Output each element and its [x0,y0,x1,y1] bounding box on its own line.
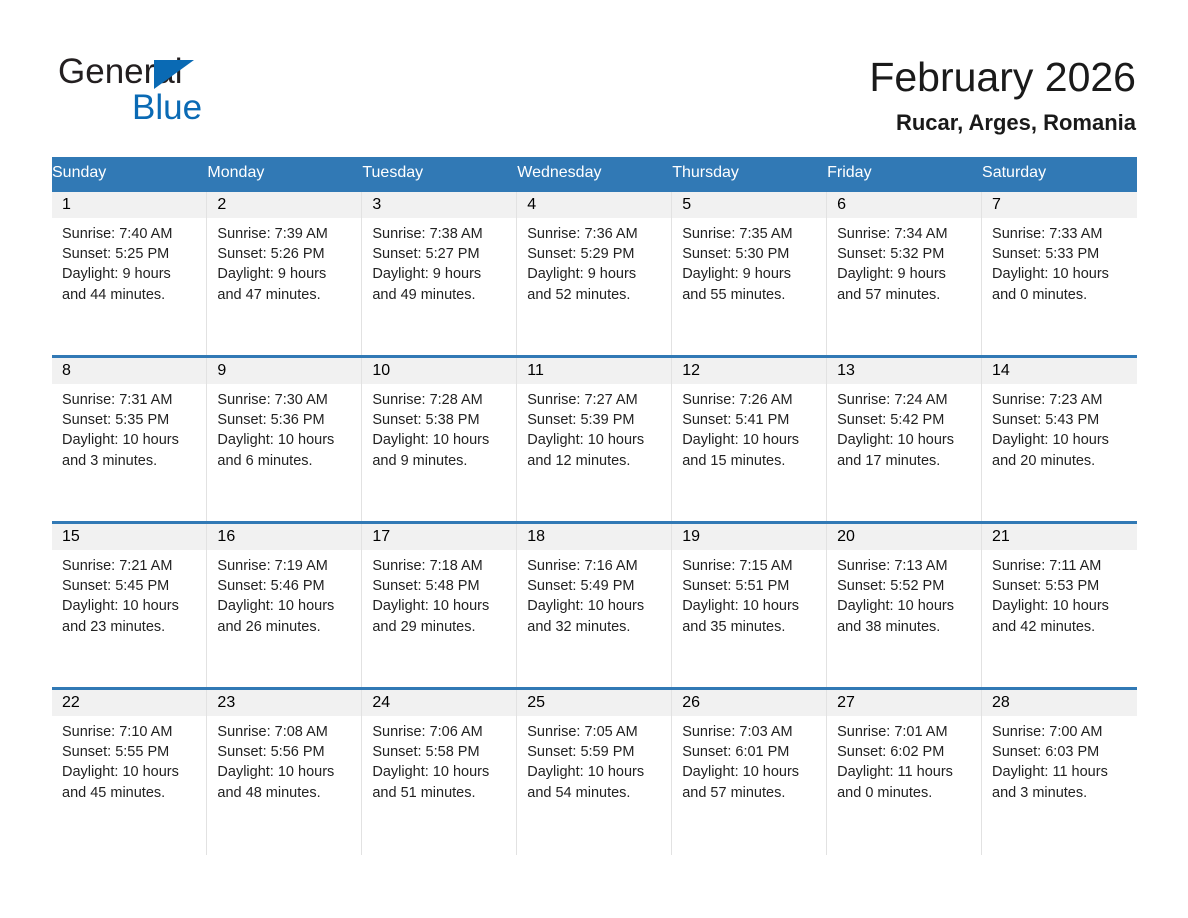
day-details: Sunrise: 7:40 AM Sunset: 5:25 PM Dayligh… [52,218,206,305]
daylight-text-line1: Daylight: 10 hours [62,430,198,450]
day-details: Sunrise: 7:19 AM Sunset: 5:46 PM Dayligh… [207,550,361,637]
daylight-text-line2: and 23 minutes. [62,617,198,637]
daylight-text-line2: and 48 minutes. [217,783,353,803]
sunrise-text: Sunrise: 7:33 AM [992,224,1128,244]
sunrise-text: Sunrise: 7:23 AM [992,390,1128,410]
daylight-text-line2: and 49 minutes. [372,285,508,305]
calendar-header-row: Sunday Monday Tuesday Wednesday Thursday… [52,157,1137,191]
sunrise-text: Sunrise: 7:38 AM [372,224,508,244]
sunset-text: Sunset: 5:46 PM [217,576,353,596]
day-details: Sunrise: 7:38 AM Sunset: 5:27 PM Dayligh… [362,218,516,305]
sunset-text: Sunset: 6:01 PM [682,742,818,762]
daylight-text-line2: and 20 minutes. [992,451,1128,471]
day-number: 24 [362,690,516,716]
sunrise-text: Sunrise: 7:10 AM [62,722,198,742]
day-cell[interactable]: 15 Sunrise: 7:21 AM Sunset: 5:45 PM Dayl… [52,523,207,689]
day-details: Sunrise: 7:24 AM Sunset: 5:42 PM Dayligh… [827,384,981,471]
daylight-text-line2: and 29 minutes. [372,617,508,637]
daylight-text-line1: Daylight: 10 hours [62,762,198,782]
sunset-text: Sunset: 5:52 PM [837,576,973,596]
day-details: Sunrise: 7:06 AM Sunset: 5:58 PM Dayligh… [362,716,516,803]
calendar-week-row: 15 Sunrise: 7:21 AM Sunset: 5:45 PM Dayl… [52,523,1137,689]
day-cell[interactable]: 2 Sunrise: 7:39 AM Sunset: 5:26 PM Dayli… [207,191,362,357]
sunrise-text: Sunrise: 7:03 AM [682,722,818,742]
sunset-text: Sunset: 5:25 PM [62,244,198,264]
day-details: Sunrise: 7:18 AM Sunset: 5:48 PM Dayligh… [362,550,516,637]
sunrise-text: Sunrise: 7:00 AM [992,722,1128,742]
daylight-text-line2: and 57 minutes. [682,783,818,803]
sunset-text: Sunset: 5:42 PM [837,410,973,430]
calendar-body: 1 Sunrise: 7:40 AM Sunset: 5:25 PM Dayli… [52,191,1137,855]
day-number: 28 [982,690,1136,716]
daylight-text-line1: Daylight: 10 hours [682,430,818,450]
day-details: Sunrise: 7:11 AM Sunset: 5:53 PM Dayligh… [982,550,1136,637]
day-number: 13 [827,358,981,384]
daylight-text-line2: and 38 minutes. [837,617,973,637]
calendar-week-row: 22 Sunrise: 7:10 AM Sunset: 5:55 PM Dayl… [52,689,1137,855]
day-cell[interactable]: 12 Sunrise: 7:26 AM Sunset: 5:41 PM Dayl… [672,357,827,523]
sunrise-text: Sunrise: 7:16 AM [527,556,663,576]
logo-triangle-icon [154,60,194,89]
day-details: Sunrise: 7:23 AM Sunset: 5:43 PM Dayligh… [982,384,1136,471]
day-cell[interactable]: 10 Sunrise: 7:28 AM Sunset: 5:38 PM Dayl… [362,357,517,523]
daylight-text-line1: Daylight: 10 hours [217,596,353,616]
daylight-text-line1: Daylight: 10 hours [527,762,663,782]
sunrise-text: Sunrise: 7:27 AM [527,390,663,410]
daylight-text-line2: and 52 minutes. [527,285,663,305]
day-number: 7 [982,192,1136,218]
sunset-text: Sunset: 5:48 PM [372,576,508,596]
weekday-header-friday: Friday [827,157,982,191]
daylight-text-line2: and 3 minutes. [992,783,1128,803]
day-details: Sunrise: 7:36 AM Sunset: 5:29 PM Dayligh… [517,218,671,305]
daylight-text-line1: Daylight: 11 hours [837,762,973,782]
day-cell[interactable]: 23 Sunrise: 7:08 AM Sunset: 5:56 PM Dayl… [207,689,362,855]
daylight-text-line2: and 17 minutes. [837,451,973,471]
weekday-header-saturday: Saturday [982,157,1137,191]
sunrise-text: Sunrise: 7:06 AM [372,722,508,742]
daylight-text-line2: and 9 minutes. [372,451,508,471]
weekday-header-thursday: Thursday [672,157,827,191]
day-details: Sunrise: 7:39 AM Sunset: 5:26 PM Dayligh… [207,218,361,305]
sunset-text: Sunset: 5:43 PM [992,410,1128,430]
daylight-text-line2: and 3 minutes. [62,451,198,471]
daylight-text-line2: and 0 minutes. [992,285,1128,305]
day-number: 3 [362,192,516,218]
day-number: 8 [52,358,206,384]
daylight-text-line2: and 6 minutes. [217,451,353,471]
sunrise-text: Sunrise: 7:35 AM [682,224,818,244]
sunrise-text: Sunrise: 7:31 AM [62,390,198,410]
sunset-text: Sunset: 5:26 PM [217,244,353,264]
sunrise-text: Sunrise: 7:30 AM [217,390,353,410]
day-number: 18 [517,524,671,550]
sunrise-text: Sunrise: 7:05 AM [527,722,663,742]
daylight-text-line2: and 44 minutes. [62,285,198,305]
day-details: Sunrise: 7:35 AM Sunset: 5:30 PM Dayligh… [672,218,826,305]
daylight-text-line1: Daylight: 10 hours [217,430,353,450]
daylight-text-line2: and 42 minutes. [992,617,1128,637]
sunrise-text: Sunrise: 7:24 AM [837,390,973,410]
daylight-text-line2: and 0 minutes. [837,783,973,803]
sunrise-text: Sunrise: 7:01 AM [837,722,973,742]
sunset-text: Sunset: 5:55 PM [62,742,198,762]
day-details: Sunrise: 7:33 AM Sunset: 5:33 PM Dayligh… [982,218,1136,305]
daylight-text-line1: Daylight: 10 hours [682,596,818,616]
day-number: 21 [982,524,1136,550]
day-number: 9 [207,358,361,384]
day-cell[interactable]: 28 Sunrise: 7:00 AM Sunset: 6:03 PM Dayl… [982,689,1137,855]
sunset-text: Sunset: 5:45 PM [62,576,198,596]
daylight-text-line2: and 32 minutes. [527,617,663,637]
sunrise-text: Sunrise: 7:08 AM [217,722,353,742]
day-cell[interactable]: 4 Sunrise: 7:36 AM Sunset: 5:29 PM Dayli… [517,191,672,357]
sunset-text: Sunset: 5:58 PM [372,742,508,762]
daylight-text-line1: Daylight: 10 hours [992,596,1128,616]
day-details: Sunrise: 7:15 AM Sunset: 5:51 PM Dayligh… [672,550,826,637]
day-number: 19 [672,524,826,550]
day-cell[interactable]: 26 Sunrise: 7:03 AM Sunset: 6:01 PM Dayl… [672,689,827,855]
daylight-text-line2: and 51 minutes. [372,783,508,803]
day-cell[interactable]: 5 Sunrise: 7:35 AM Sunset: 5:30 PM Dayli… [672,191,827,357]
daylight-text-line1: Daylight: 10 hours [62,596,198,616]
daylight-text-line1: Daylight: 9 hours [527,264,663,284]
daylight-text-line1: Daylight: 9 hours [372,264,508,284]
daylight-text-line2: and 12 minutes. [527,451,663,471]
daylight-text-line1: Daylight: 10 hours [372,596,508,616]
weekday-header-tuesday: Tuesday [362,157,517,191]
sunset-text: Sunset: 6:03 PM [992,742,1128,762]
sunrise-text: Sunrise: 7:19 AM [217,556,353,576]
daylight-text-line2: and 57 minutes. [837,285,973,305]
logo-text-blue: Blue [132,88,202,128]
daylight-text-line2: and 26 minutes. [217,617,353,637]
daylight-text-line2: and 45 minutes. [62,783,198,803]
sunset-text: Sunset: 5:29 PM [527,244,663,264]
sunset-text: Sunset: 5:35 PM [62,410,198,430]
day-number: 15 [52,524,206,550]
daylight-text-line1: Daylight: 10 hours [992,430,1128,450]
sunset-text: Sunset: 5:49 PM [527,576,663,596]
sunset-text: Sunset: 5:51 PM [682,576,818,596]
day-number: 17 [362,524,516,550]
day-cell[interactable]: 21 Sunrise: 7:11 AM Sunset: 5:53 PM Dayl… [982,523,1137,689]
day-cell[interactable]: 8 Sunrise: 7:31 AM Sunset: 5:35 PM Dayli… [52,357,207,523]
page-subtitle-location: Rucar, Arges, Romania [869,108,1136,138]
day-number: 4 [517,192,671,218]
day-number: 27 [827,690,981,716]
day-cell[interactable]: 20 Sunrise: 7:13 AM Sunset: 5:52 PM Dayl… [827,523,982,689]
daylight-text-line1: Daylight: 9 hours [682,264,818,284]
day-details: Sunrise: 7:01 AM Sunset: 6:02 PM Dayligh… [827,716,981,803]
day-number: 20 [827,524,981,550]
day-details: Sunrise: 7:34 AM Sunset: 5:32 PM Dayligh… [827,218,981,305]
day-details: Sunrise: 7:31 AM Sunset: 5:35 PM Dayligh… [52,384,206,471]
day-cell[interactable]: 18 Sunrise: 7:16 AM Sunset: 5:49 PM Dayl… [517,523,672,689]
sunset-text: Sunset: 5:32 PM [837,244,973,264]
sunrise-text: Sunrise: 7:39 AM [217,224,353,244]
day-number: 23 [207,690,361,716]
daylight-text-line1: Daylight: 10 hours [837,430,973,450]
calendar-table: Sunday Monday Tuesday Wednesday Thursday… [52,157,1137,855]
day-number: 14 [982,358,1136,384]
page-title: February 2026 [869,52,1136,102]
calendar-week-row: 8 Sunrise: 7:31 AM Sunset: 5:35 PM Dayli… [52,357,1137,523]
day-number: 5 [672,192,826,218]
day-number: 22 [52,690,206,716]
daylight-text-line2: and 15 minutes. [682,451,818,471]
day-details: Sunrise: 7:13 AM Sunset: 5:52 PM Dayligh… [827,550,981,637]
day-cell[interactable]: 11 Sunrise: 7:27 AM Sunset: 5:39 PM Dayl… [517,357,672,523]
sunrise-text: Sunrise: 7:11 AM [992,556,1128,576]
day-cell[interactable]: 16 Sunrise: 7:19 AM Sunset: 5:46 PM Dayl… [207,523,362,689]
day-details: Sunrise: 7:27 AM Sunset: 5:39 PM Dayligh… [517,384,671,471]
day-number: 11 [517,358,671,384]
day-cell[interactable]: 27 Sunrise: 7:01 AM Sunset: 6:02 PM Dayl… [827,689,982,855]
day-details: Sunrise: 7:08 AM Sunset: 5:56 PM Dayligh… [207,716,361,803]
day-details: Sunrise: 7:30 AM Sunset: 5:36 PM Dayligh… [207,384,361,471]
daylight-text-line1: Daylight: 9 hours [837,264,973,284]
day-details: Sunrise: 7:10 AM Sunset: 5:55 PM Dayligh… [52,716,206,803]
sunrise-text: Sunrise: 7:13 AM [837,556,973,576]
daylight-text-line2: and 55 minutes. [682,285,818,305]
sunrise-text: Sunrise: 7:15 AM [682,556,818,576]
day-number: 1 [52,192,206,218]
daylight-text-line1: Daylight: 11 hours [992,762,1128,782]
daylight-text-line1: Daylight: 10 hours [837,596,973,616]
day-cell[interactable]: 13 Sunrise: 7:24 AM Sunset: 5:42 PM Dayl… [827,357,982,523]
day-number: 25 [517,690,671,716]
page-header: General Blue February 2026 Rucar, Arges,… [0,0,1188,152]
day-cell[interactable]: 14 Sunrise: 7:23 AM Sunset: 5:43 PM Dayl… [982,357,1137,523]
day-cell[interactable]: 3 Sunrise: 7:38 AM Sunset: 5:27 PM Dayli… [362,191,517,357]
sunrise-text: Sunrise: 7:40 AM [62,224,198,244]
day-cell[interactable]: 24 Sunrise: 7:06 AM Sunset: 5:58 PM Dayl… [362,689,517,855]
sunset-text: Sunset: 6:02 PM [837,742,973,762]
day-details: Sunrise: 7:26 AM Sunset: 5:41 PM Dayligh… [672,384,826,471]
weekday-header-monday: Monday [207,157,362,191]
sunset-text: Sunset: 5:59 PM [527,742,663,762]
day-details: Sunrise: 7:21 AM Sunset: 5:45 PM Dayligh… [52,550,206,637]
day-cell[interactable]: 19 Sunrise: 7:15 AM Sunset: 5:51 PM Dayl… [672,523,827,689]
day-details: Sunrise: 7:28 AM Sunset: 5:38 PM Dayligh… [362,384,516,471]
sunset-text: Sunset: 5:27 PM [372,244,508,264]
daylight-text-line1: Daylight: 10 hours [217,762,353,782]
day-cell[interactable]: 17 Sunrise: 7:18 AM Sunset: 5:48 PM Dayl… [362,523,517,689]
daylight-text-line2: and 47 minutes. [217,285,353,305]
daylight-text-line2: and 35 minutes. [682,617,818,637]
daylight-text-line1: Daylight: 10 hours [372,762,508,782]
day-cell[interactable]: 25 Sunrise: 7:05 AM Sunset: 5:59 PM Dayl… [517,689,672,855]
weekday-header-wednesday: Wednesday [517,157,672,191]
sunrise-text: Sunrise: 7:26 AM [682,390,818,410]
day-number: 2 [207,192,361,218]
sunset-text: Sunset: 5:39 PM [527,410,663,430]
sunset-text: Sunset: 5:33 PM [992,244,1128,264]
day-cell[interactable]: 9 Sunrise: 7:30 AM Sunset: 5:36 PM Dayli… [207,357,362,523]
sunrise-text: Sunrise: 7:28 AM [372,390,508,410]
day-number: 26 [672,690,826,716]
generalblue-logo[interactable]: General Blue [58,52,358,127]
sunset-text: Sunset: 5:56 PM [217,742,353,762]
day-number: 16 [207,524,361,550]
sunrise-text: Sunrise: 7:34 AM [837,224,973,244]
day-number: 10 [362,358,516,384]
day-cell[interactable]: 22 Sunrise: 7:10 AM Sunset: 5:55 PM Dayl… [52,689,207,855]
daylight-text-line1: Daylight: 10 hours [527,430,663,450]
daylight-text-line1: Daylight: 10 hours [682,762,818,782]
weekday-header-sunday: Sunday [52,157,207,191]
day-details: Sunrise: 7:03 AM Sunset: 6:01 PM Dayligh… [672,716,826,803]
daylight-text-line1: Daylight: 10 hours [372,430,508,450]
daylight-text-line1: Daylight: 10 hours [527,596,663,616]
sunset-text: Sunset: 5:41 PM [682,410,818,430]
day-details: Sunrise: 7:16 AM Sunset: 5:49 PM Dayligh… [517,550,671,637]
sunrise-text: Sunrise: 7:21 AM [62,556,198,576]
day-number: 6 [827,192,981,218]
daylight-text-line1: Daylight: 10 hours [992,264,1128,284]
day-cell[interactable]: 6 Sunrise: 7:34 AM Sunset: 5:32 PM Dayli… [827,191,982,357]
daylight-text-line1: Daylight: 9 hours [217,264,353,284]
sunset-text: Sunset: 5:36 PM [217,410,353,430]
calendar-page: General Blue February 2026 Rucar, Arges,… [0,0,1188,918]
day-cell[interactable]: 1 Sunrise: 7:40 AM Sunset: 5:25 PM Dayli… [52,191,207,357]
sunrise-text: Sunrise: 7:18 AM [372,556,508,576]
day-cell[interactable]: 7 Sunrise: 7:33 AM Sunset: 5:33 PM Dayli… [982,191,1137,357]
daylight-text-line1: Daylight: 9 hours [62,264,198,284]
sunset-text: Sunset: 5:30 PM [682,244,818,264]
calendar-week-row: 1 Sunrise: 7:40 AM Sunset: 5:25 PM Dayli… [52,191,1137,357]
sunrise-text: Sunrise: 7:36 AM [527,224,663,244]
daylight-text-line2: and 54 minutes. [527,783,663,803]
sunset-text: Sunset: 5:53 PM [992,576,1128,596]
day-details: Sunrise: 7:05 AM Sunset: 5:59 PM Dayligh… [517,716,671,803]
title-block: February 2026 Rucar, Arges, Romania [869,52,1136,138]
sunset-text: Sunset: 5:38 PM [372,410,508,430]
day-details: Sunrise: 7:00 AM Sunset: 6:03 PM Dayligh… [982,716,1136,803]
day-number: 12 [672,358,826,384]
